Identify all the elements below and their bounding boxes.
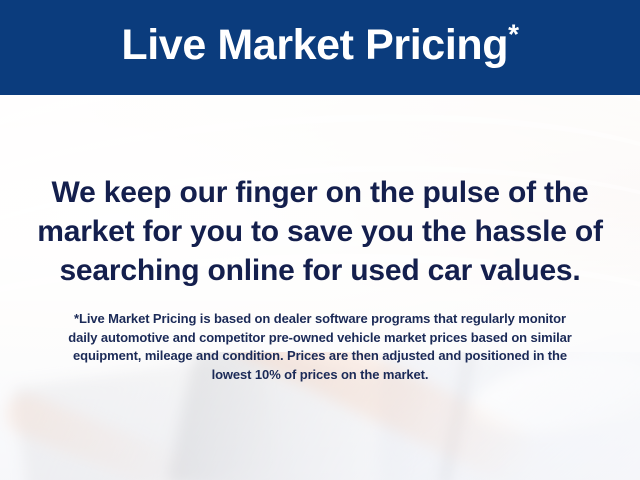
page-title-text: Live Market Pricing <box>121 21 508 69</box>
disclaimer-line-3: equipment, mileage and condition. Prices… <box>22 347 618 366</box>
headline-line-2: market for you to save you the hassle of <box>20 212 620 251</box>
headline-line-1: We keep our finger on the pulse of the <box>20 173 620 212</box>
headline-line-3: searching online for used car values. <box>20 251 620 290</box>
disclaimer-line-4: lowest 10% of prices on the market. <box>22 366 618 385</box>
headline-block: We keep our finger on the pulse of the m… <box>20 173 620 290</box>
page-title: Live Market Pricing* <box>121 24 518 71</box>
disclaimer-line-2: daily automotive and competitor pre-owne… <box>22 329 618 348</box>
disclaimer-line-1: *Live Market Pricing is based on dealer … <box>22 310 618 329</box>
disclaimer-block: *Live Market Pricing is based on dealer … <box>22 310 618 384</box>
page-title-asterisk: * <box>508 19 519 50</box>
live-market-pricing-card: Live Market Pricing* We keep our finger … <box>0 0 640 480</box>
header-banner: Live Market Pricing* <box>0 0 640 95</box>
content-area: We keep our finger on the pulse of the m… <box>0 95 640 480</box>
